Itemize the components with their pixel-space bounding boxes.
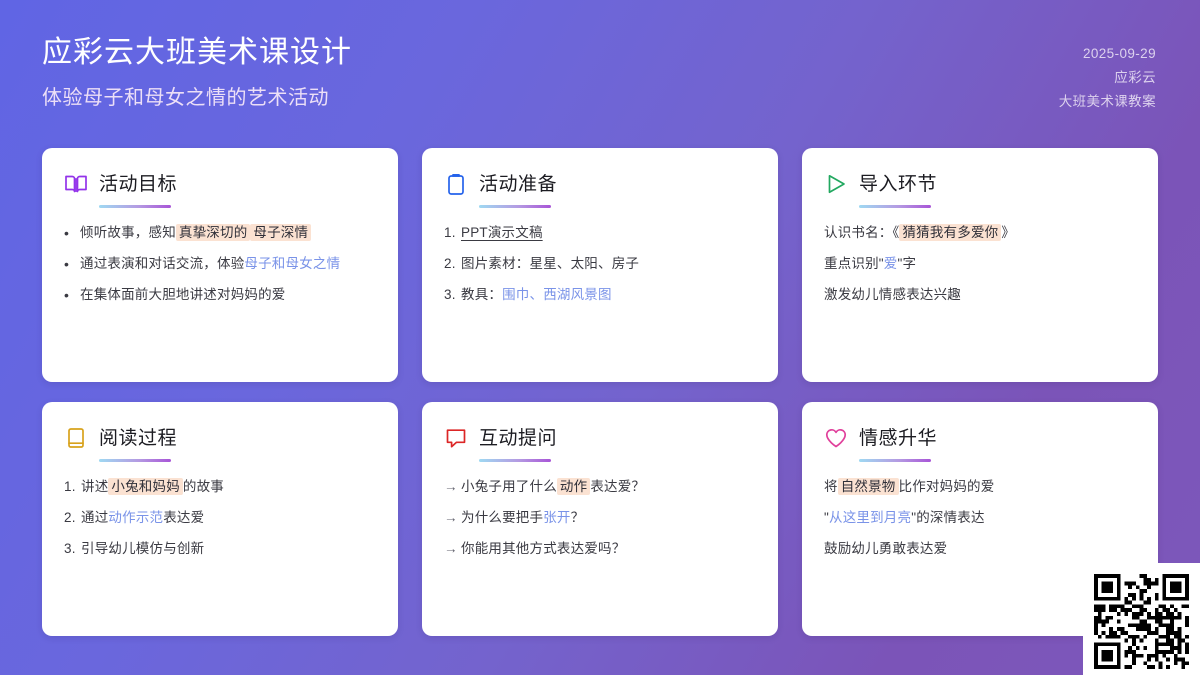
list-item-text: 认识书名：《猜猜我有多爱你》 [824, 223, 1136, 244]
page-subtitle: 体验母子和母女之情的艺术活动 [42, 81, 352, 110]
list-item: 认识书名：《猜猜我有多爱你》 [824, 223, 1136, 244]
card-body: 1.PPT演示文稿2.图片素材：星星、太阳、房子3.教具：围巾、西湖风景图 [444, 223, 756, 306]
title-accent-underline [99, 459, 171, 462]
header-category: 大班美术课教案 [1059, 90, 1156, 114]
list-item-text: 在集体面前大胆地讲述对妈妈的爱 [80, 285, 376, 306]
text-fragment: 》 [1001, 225, 1015, 240]
list-marker: 2. [444, 254, 461, 275]
list-item-text: 你能用其他方式表达爱吗？ [461, 539, 756, 560]
text-fragment: 的故事 [183, 479, 224, 494]
list-marker: • [64, 254, 80, 275]
underlined-phrase[interactable]: PPT演示文稿 [461, 225, 543, 240]
text-fragment: 比作对妈妈的爱 [899, 479, 995, 494]
text-fragment: 表达爱？ [590, 479, 645, 494]
card-introduction-stage: 导入环节认识书名：《猜猜我有多爱你》重点识别"爱"字激发幼儿情感表达兴趣 [802, 148, 1158, 382]
text-fragment: 为什么要把手 [461, 510, 543, 525]
text-fragment: 你能用其他方式表达爱吗？ [461, 541, 625, 556]
list-marker: → [444, 508, 461, 529]
list-item-text: 倾听故事，感知真挚深切的母子深情 [80, 223, 376, 244]
list-item: •倾听故事，感知真挚深切的母子深情 [64, 223, 376, 244]
list-item: •在集体面前大胆地讲述对妈妈的爱 [64, 285, 376, 306]
qr-code[interactable] [1094, 574, 1189, 669]
text-fragment: 激发幼儿情感表达兴趣 [824, 287, 961, 302]
list-item: →为什么要把手张开？ [444, 508, 756, 529]
list-marker: 1. [444, 223, 461, 244]
card-body: 认识书名：《猜猜我有多爱你》重点识别"爱"字激发幼儿情感表达兴趣 [824, 223, 1136, 306]
card-header: 活动目标 [64, 172, 376, 196]
emphasis-phrase: 爱 [884, 256, 898, 271]
page-title: 应彩云大班美术课设计 [42, 34, 352, 72]
list-item-text: 通过动作示范表达爱 [81, 508, 376, 529]
text-fragment: "的深情表达 [911, 510, 985, 525]
emphasis-phrase: 张开 [543, 510, 570, 525]
list-item: 重点识别"爱"字 [824, 254, 1136, 275]
highlighted-phrase: 母子深情 [250, 224, 311, 241]
text-fragment: "字 [898, 256, 917, 271]
title-accent-underline [859, 205, 931, 208]
card-title: 活动目标 [99, 175, 177, 194]
list-item: 1.PPT演示文稿 [444, 223, 756, 244]
text-fragment: 认识书名：《 [824, 225, 899, 240]
card-title: 情感升华 [859, 429, 937, 448]
list-marker: → [444, 539, 461, 560]
text-fragment: 重点识别" [824, 256, 884, 271]
card-title: 导入环节 [859, 175, 937, 194]
list-marker: 3. [64, 539, 81, 560]
list-item: 3.引导幼儿模仿与创新 [64, 539, 376, 560]
text-fragment: 通过表演和对话交流，体验 [80, 256, 244, 271]
text-fragment: 教具： [461, 287, 502, 302]
text-fragment: 将 [824, 479, 838, 494]
header-date: 2025-09-29 [1059, 42, 1156, 66]
text-fragment: 表达爱 [163, 510, 204, 525]
list-item: 鼓励幼儿勇敢表达爱 [824, 539, 1136, 560]
list-item: 1.讲述小兔和妈妈的故事 [64, 477, 376, 498]
list-item-text: 将自然景物比作对妈妈的爱 [824, 477, 1136, 498]
list-item-text: 重点识别"爱"字 [824, 254, 1136, 275]
card-body: •倾听故事，感知真挚深切的母子深情•通过表演和对话交流，体验母子和母女之情•在集… [64, 223, 376, 306]
list-item: →小兔子用了什么动作表达爱？ [444, 477, 756, 498]
open-book-icon [64, 172, 88, 196]
title-accent-underline [479, 459, 551, 462]
highlighted-phrase: 动作 [557, 478, 590, 495]
emphasis-phrase: 母子和母女之情 [244, 256, 340, 271]
list-item-text: 小兔子用了什么动作表达爱？ [461, 477, 756, 498]
list-item-text: 为什么要把手张开？ [461, 508, 756, 529]
emphasis-phrase: 从这里到月亮 [829, 510, 911, 525]
card-header: 导入环节 [824, 172, 1136, 196]
text-fragment: 在集体面前大胆地讲述对妈妈的爱 [80, 287, 286, 302]
list-item-text: 讲述小兔和妈妈的故事 [81, 477, 376, 498]
list-item-text: 通过表演和对话交流，体验母子和母女之情 [80, 254, 376, 275]
list-marker: 3. [444, 285, 461, 306]
emphasis-phrase: 动作示范 [108, 510, 163, 525]
header-author: 应彩云 [1059, 66, 1156, 90]
list-marker: • [64, 285, 80, 306]
list-item-text: 教具：围巾、西湖风景图 [461, 285, 756, 306]
card-activity-preparation: 活动准备1.PPT演示文稿2.图片素材：星星、太阳、房子3.教具：围巾、西湖风景… [422, 148, 778, 382]
title-accent-underline [859, 459, 931, 462]
list-marker: • [64, 223, 80, 244]
highlighted-phrase: 真挚深切的 [176, 224, 251, 241]
closed-book-icon [64, 426, 88, 450]
list-marker: → [444, 477, 461, 498]
card-header: 情感升华 [824, 426, 1136, 450]
qr-panel [1083, 563, 1200, 675]
speech-bubble-icon [444, 426, 468, 450]
text-fragment: 鼓励幼儿勇敢表达爱 [824, 541, 947, 556]
list-item: 2.图片素材：星星、太阳、房子 [444, 254, 756, 275]
card-title: 活动准备 [479, 175, 557, 194]
list-item-text: 鼓励幼儿勇敢表达爱 [824, 539, 1136, 560]
heart-icon [824, 426, 848, 450]
list-item-text: PPT演示文稿 [461, 223, 756, 244]
header-meta: 2025-09-29 应彩云 大班美术课教案 [1059, 42, 1156, 114]
clipboard-icon [444, 172, 468, 196]
list-item: 将自然景物比作对妈妈的爱 [824, 477, 1136, 498]
list-item: •通过表演和对话交流，体验母子和母女之情 [64, 254, 376, 275]
list-item: 2.通过动作示范表达爱 [64, 508, 376, 529]
list-item-text: 激发幼儿情感表达兴趣 [824, 285, 1136, 306]
list-item: 3.教具：围巾、西湖风景图 [444, 285, 756, 306]
title-accent-underline [99, 205, 171, 208]
text-fragment: 通过 [81, 510, 108, 525]
list-marker: 2. [64, 508, 81, 529]
text-fragment: ？ [571, 510, 585, 525]
text-fragment: 引导幼儿模仿与创新 [81, 541, 204, 556]
highlighted-phrase: 猜猜我有多爱你 [899, 224, 1001, 241]
text-fragment: 小兔子用了什么 [461, 479, 557, 494]
highlighted-phrase: 自然景物 [838, 478, 899, 495]
text-fragment: 倾听故事，感知 [80, 225, 176, 240]
list-item-text: "从这里到月亮"的深情表达 [824, 508, 1136, 529]
card-body: 1.讲述小兔和妈妈的故事2.通过动作示范表达爱3.引导幼儿模仿与创新 [64, 477, 376, 560]
card-body: →小兔子用了什么动作表达爱？→为什么要把手张开？→你能用其他方式表达爱吗？ [444, 477, 756, 560]
list-item-text: 图片素材：星星、太阳、房子 [461, 254, 756, 275]
header-title-block: 应彩云大班美术课设计 体验母子和母女之情的艺术活动 [42, 34, 352, 110]
emphasis-phrase: 围巾、西湖风景图 [502, 287, 612, 302]
card-grid: 活动目标•倾听故事，感知真挚深切的母子深情•通过表演和对话交流，体验母子和母女之… [42, 148, 1158, 636]
card-header: 活动准备 [444, 172, 756, 196]
card-interactive-questions: 互动提问→小兔子用了什么动作表达爱？→为什么要把手张开？→你能用其他方式表达爱吗… [422, 402, 778, 636]
text-fragment: 讲述 [81, 479, 108, 494]
slide-canvas: 应彩云大班美术课设计 体验母子和母女之情的艺术活动 2025-09-29 应彩云… [0, 0, 1200, 675]
card-header: 阅读过程 [64, 426, 376, 450]
list-item-text: 引导幼儿模仿与创新 [81, 539, 376, 560]
highlighted-phrase: 小兔和妈妈 [108, 478, 183, 495]
card-body: 将自然景物比作对妈妈的爱"从这里到月亮"的深情表达鼓励幼儿勇敢表达爱 [824, 477, 1136, 560]
slide-header: 应彩云大班美术课设计 体验母子和母女之情的艺术活动 2025-09-29 应彩云… [0, 0, 1200, 132]
card-activity-goals: 活动目标•倾听故事，感知真挚深切的母子深情•通过表演和对话交流，体验母子和母女之… [42, 148, 398, 382]
list-item: 激发幼儿情感表达兴趣 [824, 285, 1136, 306]
card-title: 阅读过程 [99, 429, 177, 448]
list-item: →你能用其他方式表达爱吗？ [444, 539, 756, 560]
card-header: 互动提问 [444, 426, 756, 450]
list-item: "从这里到月亮"的深情表达 [824, 508, 1136, 529]
text-fragment: 图片素材：星星、太阳、房子 [461, 256, 639, 271]
card-reading-process: 阅读过程1.讲述小兔和妈妈的故事2.通过动作示范表达爱3.引导幼儿模仿与创新 [42, 402, 398, 636]
play-triangle-icon [824, 172, 848, 196]
list-marker: 1. [64, 477, 81, 498]
title-accent-underline [479, 205, 551, 208]
card-title: 互动提问 [479, 429, 557, 448]
